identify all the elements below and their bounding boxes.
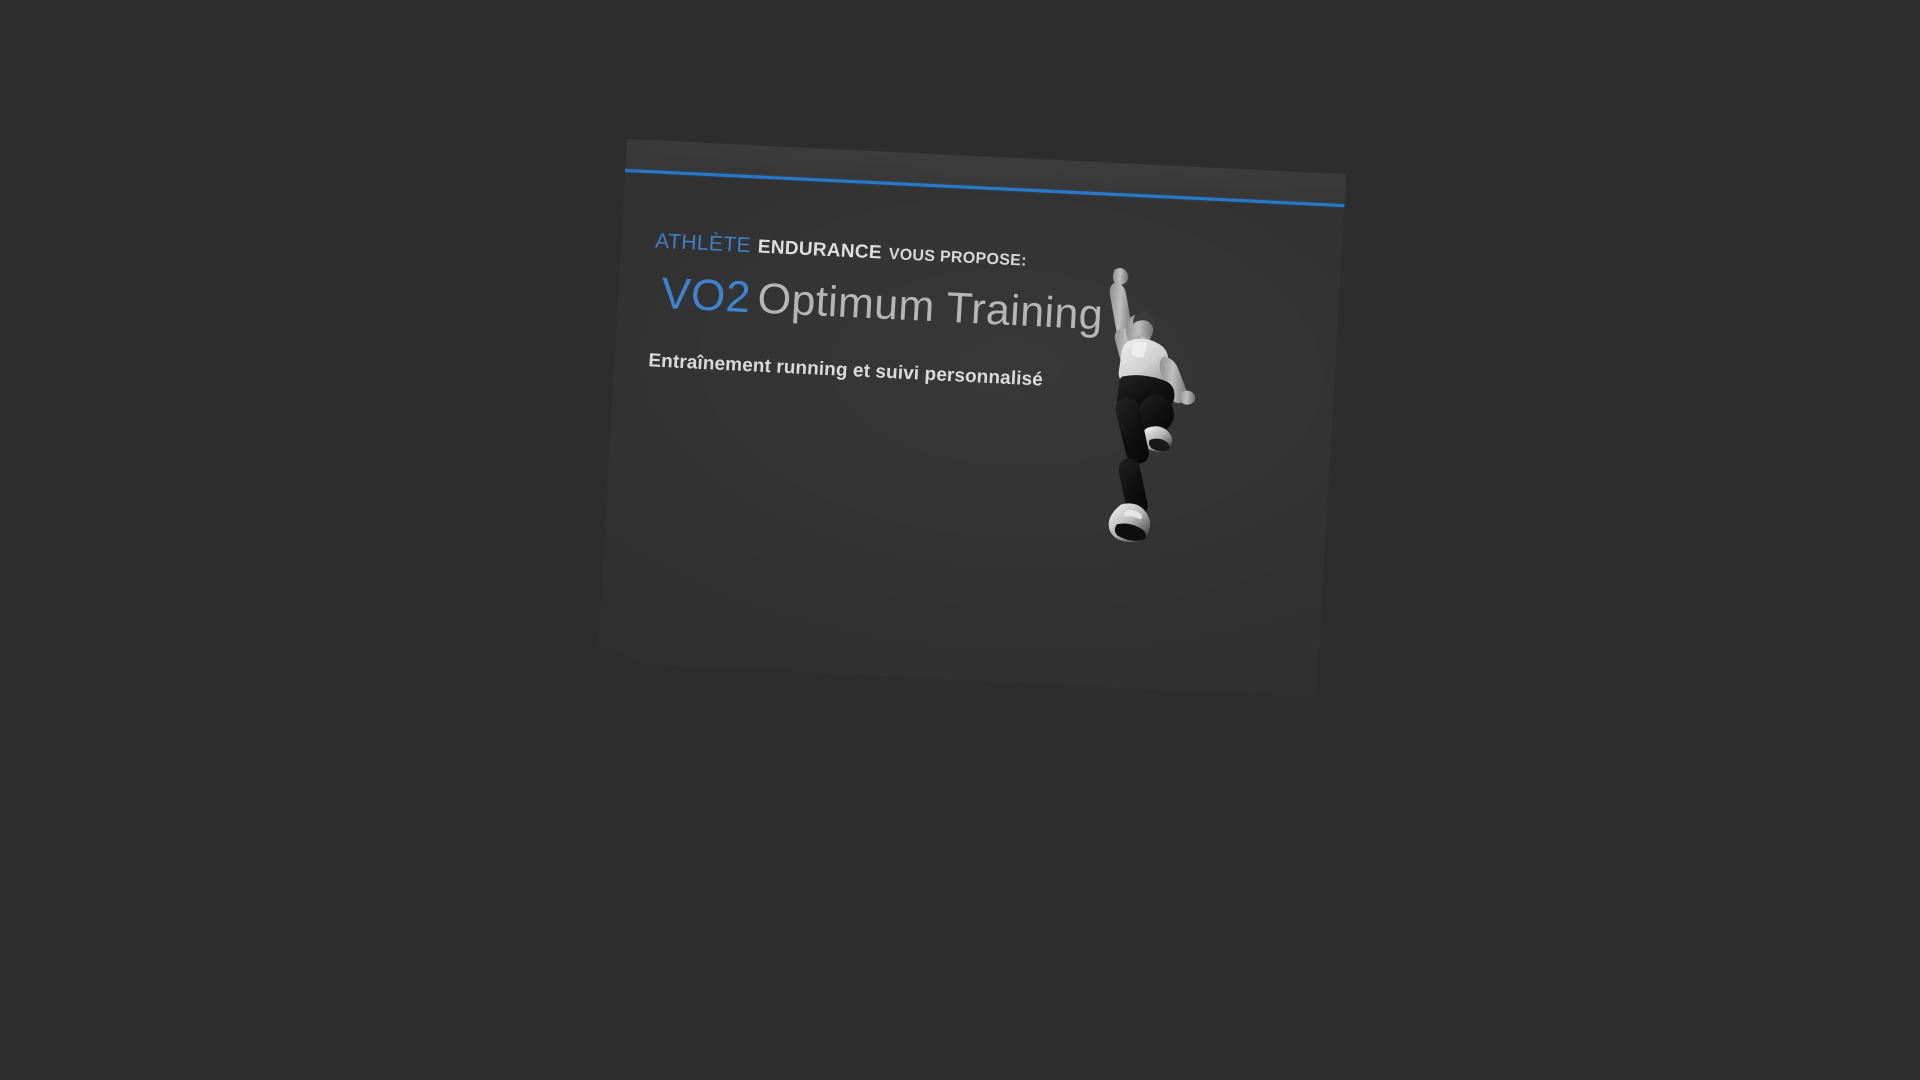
headline: VO2Optimum Training (653, 272, 1104, 338)
headline-main-text: Optimum Training (756, 275, 1104, 340)
presentation-slide: ATHLÈTEENDURANCEVOUS PROPOSE: VO2Optimum… (597, 139, 1346, 697)
runner-jumping-photo (1060, 256, 1206, 552)
screen: ATHLÈTEENDURANCEVOUS PROPOSE: VO2Optimum… (0, 0, 1920, 1080)
slide-content: ATHLÈTEENDURANCEVOUS PROPOSE: VO2Optimum… (597, 172, 1344, 697)
headline-accent-word: VO2 (660, 269, 752, 322)
eyebrow-line: ATHLÈTEENDURANCEVOUS PROPOSE: (655, 231, 1028, 270)
brand-name-primary: ATHLÈTE (655, 230, 752, 258)
eyebrow-tagline: VOUS PROPOSE: (888, 246, 1027, 270)
subheadline: Entraînement running et suivi personnali… (648, 351, 1043, 389)
brand-name-secondary: ENDURANCE (757, 237, 882, 264)
